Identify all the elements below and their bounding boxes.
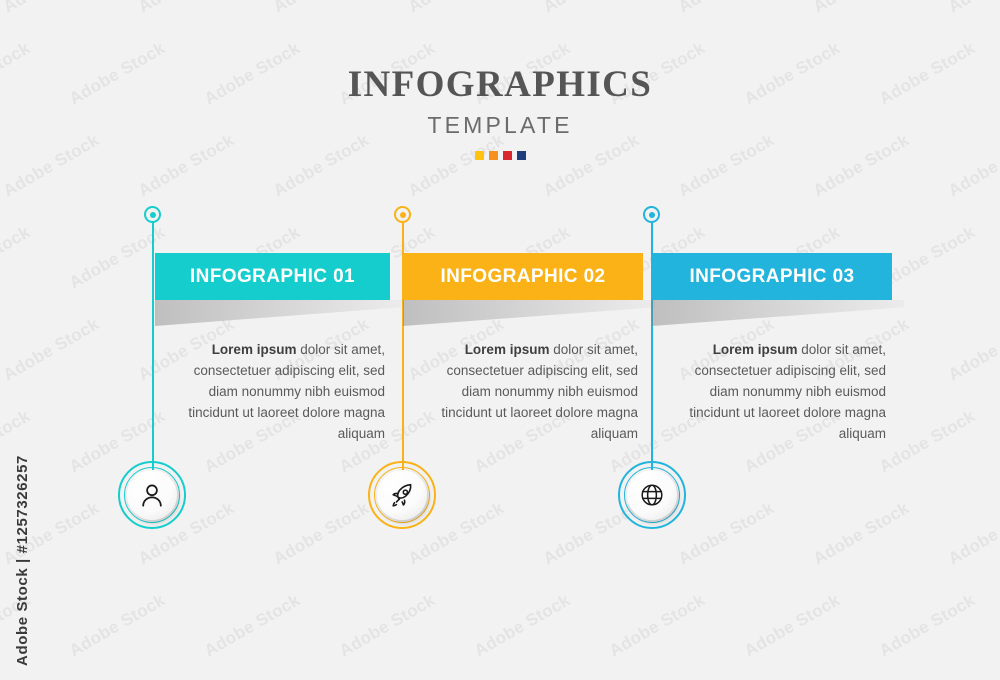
banner-01[interactable]: INFOGRAPHIC 01: [155, 253, 390, 300]
banner-label: INFOGRAPHIC 02: [440, 266, 605, 288]
banner-shadow: [403, 300, 655, 326]
icon-badge-02[interactable]: [368, 461, 436, 529]
rocket-icon: [377, 470, 427, 520]
step-description-02: Lorem ipsum dolor sit amet, consectetuer…: [420, 340, 638, 445]
step-marker-03[interactable]: [643, 206, 660, 223]
step-marker-01[interactable]: [144, 206, 161, 223]
description-lead: Lorem ipsum: [465, 342, 550, 357]
description-lead: Lorem ipsum: [713, 342, 798, 357]
description-lead: Lorem ipsum: [212, 342, 297, 357]
icon-badge-03[interactable]: [618, 461, 686, 529]
step-description-01: Lorem ipsum dolor sit amet, consectetuer…: [170, 340, 385, 445]
person-icon: [127, 470, 177, 520]
banner-label: INFOGRAPHIC 01: [190, 266, 355, 288]
globe-icon: [627, 470, 677, 520]
banner-shadow: [652, 300, 904, 326]
marker-dot: [400, 212, 406, 218]
infographic-canvas: Adobe StockAdobe StockAdobe StockAdobe S…: [0, 0, 1000, 680]
marker-dot: [150, 212, 156, 218]
marker-dot: [649, 212, 655, 218]
icon-badge-01[interactable]: [118, 461, 186, 529]
step-description-03: Lorem ipsum dolor sit amet, consectetuer…: [668, 340, 886, 445]
step-marker-02[interactable]: [394, 206, 411, 223]
connector-line: [152, 216, 154, 481]
banner-label: INFOGRAPHIC 03: [689, 266, 854, 288]
side-watermark: Adobe Stock | #1257326257: [14, 455, 31, 666]
steps-container: INFOGRAPHIC 01Lorem ipsum dolor sit amet…: [0, 0, 1000, 680]
banner-03[interactable]: INFOGRAPHIC 03: [652, 253, 892, 300]
banner-02[interactable]: INFOGRAPHIC 02: [403, 253, 643, 300]
banner-shadow: [155, 300, 402, 326]
